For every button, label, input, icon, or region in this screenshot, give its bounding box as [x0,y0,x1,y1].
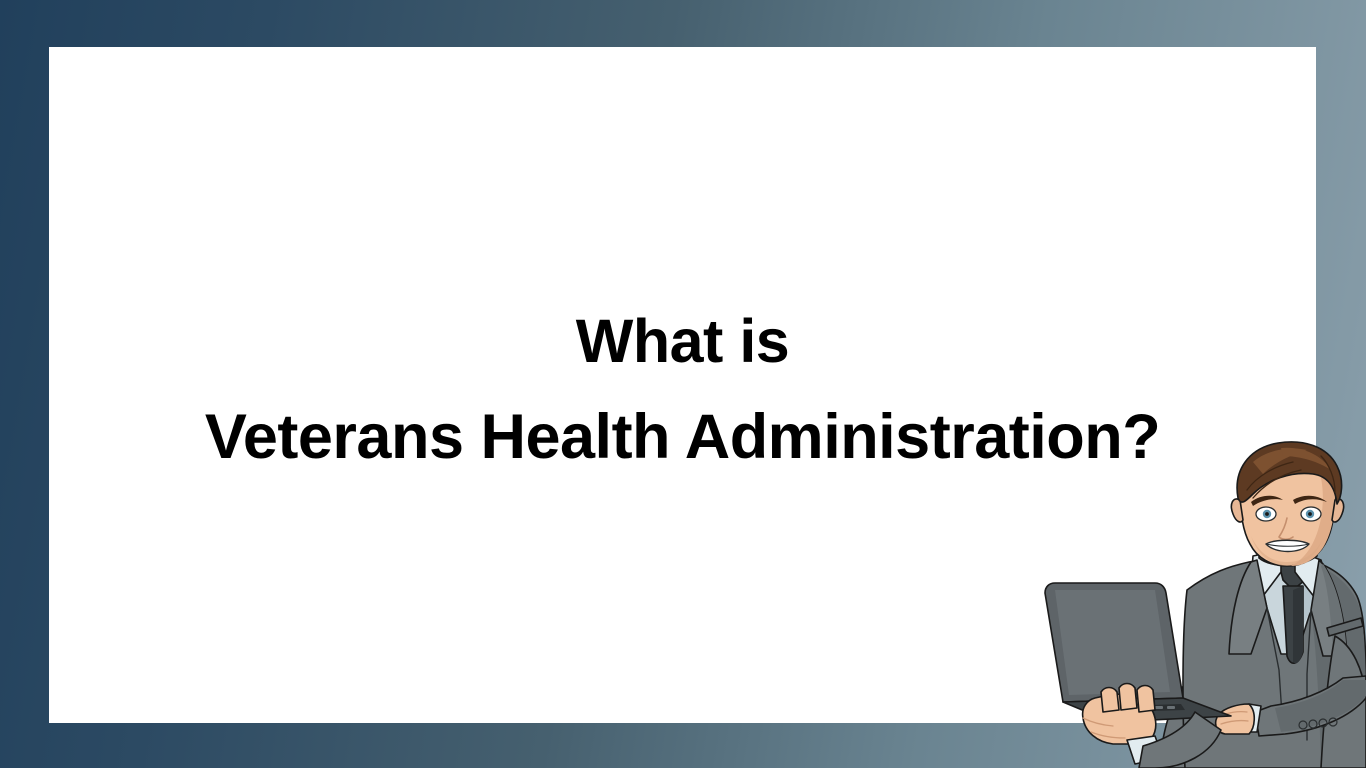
slide-canvas: What is Veterans Health Administration? [0,0,1366,768]
title-line-1: What is [49,293,1316,389]
businessman-with-laptop-illustration [1035,440,1366,768]
